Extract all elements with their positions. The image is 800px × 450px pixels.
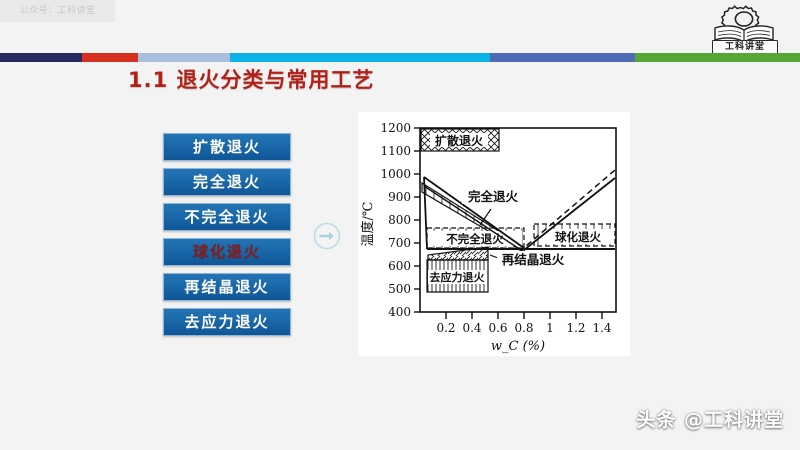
strip-segment-green (635, 53, 800, 62)
arrow-right-circle-icon (312, 221, 342, 251)
region-diffusion-annealing: 扩散退火 (421, 129, 499, 151)
region-label-stress-relief: 去应力退火 (430, 270, 486, 284)
region-stress-relief-annealing: 去应力退火 (427, 260, 488, 292)
y-tick-800: 800 (388, 213, 411, 227)
strip-segment-steel-blue (138, 53, 230, 62)
process-button-spheroidizing-annealing[interactable]: 球化退火 (163, 238, 291, 266)
y-tick-1000: 1000 (380, 167, 411, 181)
y-tick-500: 500 (388, 282, 411, 296)
brand-logo: 工科讲堂 (702, 3, 786, 55)
x-tick-0-2: 0.2 (436, 321, 455, 335)
strip-segment-red (82, 53, 138, 62)
x-axis-label: w_C (%) (491, 339, 545, 354)
region-label-incomplete: 不完全退火 (446, 232, 504, 246)
process-button-full-annealing[interactable]: 完全退火 (163, 168, 291, 196)
process-button-recrystallization-annealing[interactable]: 再结晶退火 (163, 273, 291, 301)
top-watermark: 公众号：工科讲堂 (0, 0, 115, 22)
x-axis: 0.2 0.4 0.6 0.8 1 1.2 1.4 (436, 312, 611, 335)
x-tick-0-6: 0.6 (488, 321, 507, 335)
process-button-incomplete-annealing[interactable]: 不完全退火 (163, 203, 291, 231)
chart-svg: 1200 1100 1000 900 800 700 600 500 400 温… (358, 112, 630, 356)
region-spheroidizing-annealing: 球化退火 (534, 224, 615, 246)
annotation-recrystallization: 再结晶退火 (502, 252, 565, 267)
process-button-stress-relief-annealing[interactable]: 去应力退火 (163, 308, 291, 336)
strip-segment-navy (0, 53, 82, 62)
y-tick-1100: 1100 (380, 144, 411, 158)
page-title: 1.1 退火分类与常用工艺 (128, 64, 375, 94)
x-tick-0-4: 0.4 (462, 321, 481, 335)
y-tick-900: 900 (388, 190, 411, 204)
process-button-diffusion-annealing[interactable]: 扩散退火 (163, 133, 291, 161)
bottom-watermark: 头条 @工科讲堂 (636, 405, 784, 432)
x-tick-0-8: 0.8 (514, 321, 533, 335)
x-tick-1-2: 1.2 (566, 321, 585, 335)
y-axis-label: 温度/℃ (360, 202, 376, 247)
process-list: 扩散退火 完全退火 不完全退火 球化退火 再结晶退火 去应力退火 (163, 133, 291, 343)
region-label-spheroidizing: 球化退火 (555, 230, 601, 244)
strip-segment-cyan (230, 53, 490, 62)
x-tick-1-0: 1 (546, 321, 554, 335)
y-tick-700: 700 (388, 236, 411, 250)
region-label-diffusion: 扩散退火 (435, 133, 484, 148)
x-tick-1-4: 1.4 (592, 321, 611, 335)
y-tick-400: 400 (388, 305, 411, 319)
annotation-full-annealing: 完全退火 (468, 189, 519, 204)
accent-color-strip (0, 53, 800, 62)
annealing-temperature-chart: 1200 1100 1000 900 800 700 600 500 400 温… (358, 112, 630, 356)
y-tick-600: 600 (388, 259, 411, 273)
y-tick-1200: 1200 (380, 121, 411, 135)
y-axis: 1200 1100 1000 900 800 700 600 500 400 (380, 121, 420, 319)
strip-segment-indigo (490, 53, 635, 62)
slide-canvas: 公众号：工科讲堂 工科讲堂 1.1 退火分类与常用工艺 (0, 0, 800, 450)
